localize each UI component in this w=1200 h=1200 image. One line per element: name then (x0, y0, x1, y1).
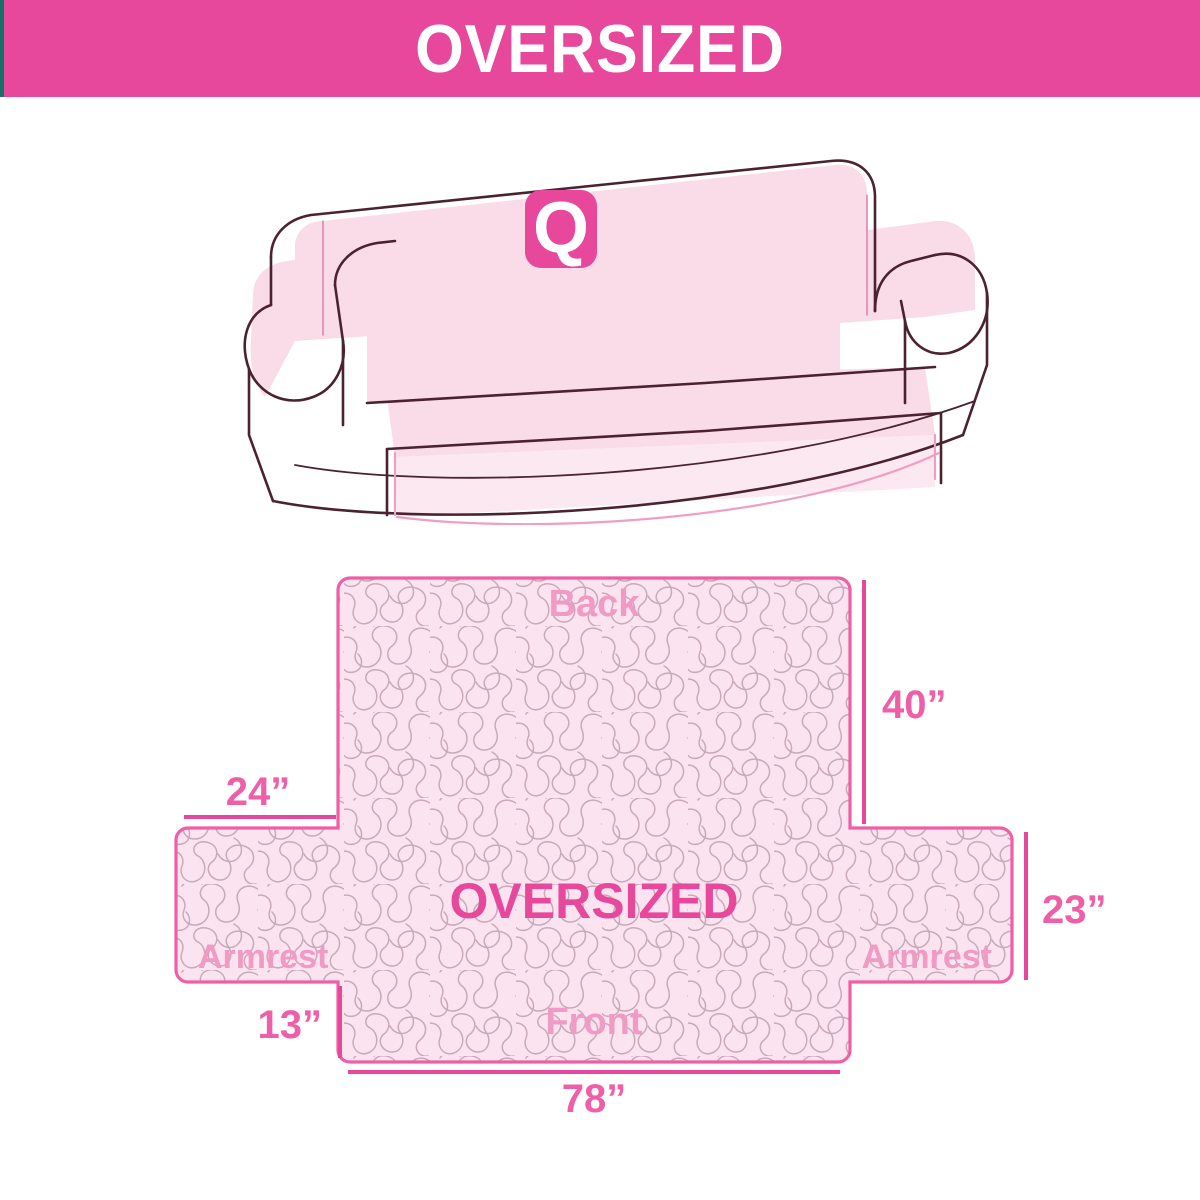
dimension-label-back-height: 40” (882, 683, 947, 727)
panel-label-front: Front (545, 1001, 642, 1043)
sofa-right-arm-front-face (963, 293, 987, 435)
page-title: OVERSIZED (415, 15, 785, 83)
logo-letter: Q (533, 188, 589, 268)
panel-label-armrest-right: Armrest (862, 938, 992, 976)
brand-logo: Q (525, 188, 597, 268)
dimension-label-front-height: 13” (258, 1003, 323, 1047)
sofa-drawing: Q (245, 161, 988, 525)
slipcover-pattern-diagram: Back Front Armrest Armrest OVERSIZED 40”… (0, 540, 1200, 1140)
panel-label-center: OVERSIZED (450, 873, 739, 929)
dimension-label-total-width: 78” (562, 1077, 627, 1121)
header-accent-stripe (0, 0, 4, 97)
dimension-label-armrest-width: 24” (226, 770, 291, 814)
dimension-label-armrest-height: 23” (1042, 888, 1107, 932)
panel-label-armrest-left: Armrest (198, 938, 328, 976)
header-banner: OVERSIZED (0, 0, 1200, 97)
cover-panel-shape (176, 578, 1012, 1062)
sofa-illustration: Q (235, 135, 995, 525)
panel-label-back: Back (549, 583, 641, 625)
